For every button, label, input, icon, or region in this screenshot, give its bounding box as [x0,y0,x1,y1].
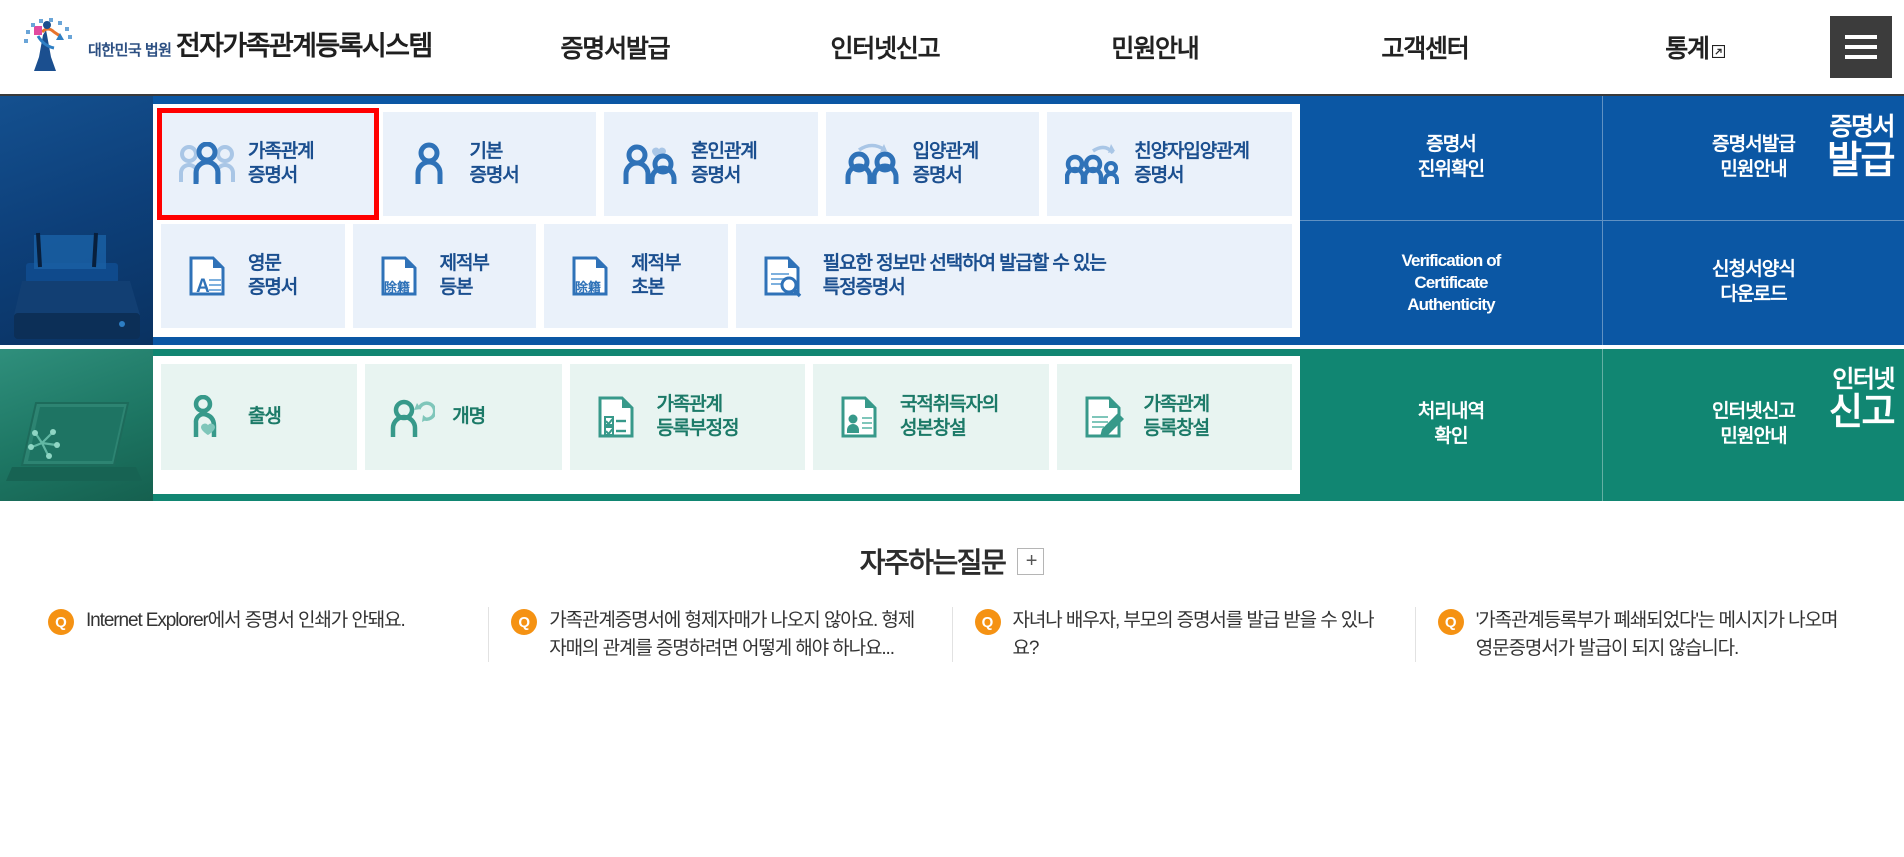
card-basic-certificate[interactable]: 기본 증명서 [383,112,597,216]
certificate-section: 증명서 발급 가족관계 증명서 [0,96,1904,345]
card-specific-certificate[interactable]: 필요한 정보만 선택하여 발급할 수 있는 특정증명서 [736,224,1292,328]
nav-internet-report[interactable]: 인터넷신고 [750,29,1020,65]
card-label: 국적취득자의 성본창설 [900,393,998,442]
faq-item[interactable]: Q Internet Explorer에서 증명서 인쇄가 안돼요. [26,607,488,662]
pregnant-person-heart-icon [179,395,235,439]
svg-text:除籍: 除籍 [384,280,410,295]
card-label: 출생 [248,405,281,429]
side-link-processing-status[interactable]: 처리내역 확인 [1300,349,1602,501]
document-checklist-icon [588,393,644,441]
section-label-top: 인터넷 [1829,367,1894,393]
card-label: 필요한 정보만 선택하여 발급할 수 있는 특정증명서 [823,252,1106,301]
card-jejeok-copy[interactable]: 除籍 제적부 등본 [353,224,537,328]
two-people-arrow-icon [844,142,900,186]
faq-question-text: 가족관계증명서에 형제자매가 나오지 않아요. 형제자매의 관계를 증명하려면 … [549,607,929,662]
nav-label: 증명서발급 [560,29,669,65]
card-label: 제적부 등본 [440,252,489,301]
section-label-top: 증명서 [1827,114,1894,142]
section-label-bottom: 발급 [1827,142,1894,182]
question-badge-icon: Q [48,609,74,635]
nav-civil-guide[interactable]: 민원안내 [1020,29,1290,65]
external-link-icon [1712,36,1725,49]
laptop-art [6,395,148,499]
nav-label: 인터넷신고 [830,29,939,65]
card-family-relation-certificate[interactable]: 가족관계 증명서 [161,112,375,216]
card-label: 혼인관계 증명서 [691,140,757,189]
card-label: 가족관계 등록창설 [1144,393,1210,442]
nav-label: 민원안내 [1111,29,1198,65]
card-full-adoption-relation-certificate[interactable]: 친양자입양관계 증명서 [1047,112,1292,216]
faq-item[interactable]: Q 가족관계증명서에 형제자매가 나오지 않아요. 형제자매의 관계를 증명하려… [488,607,951,662]
card-birth-report[interactable]: 출생 [161,364,357,470]
faq-title: 자주하는질문 [860,541,1006,581]
nav-customer-center[interactable]: 고객센터 [1290,29,1560,65]
document-jejeok-icon: 除籍 [371,252,427,300]
svg-text:除籍: 除籍 [575,280,601,295]
logo-title: 전자가족관계등록시스템 [176,31,432,61]
logo-subtitle: 대한민국 법원 [88,42,171,59]
faq-section: 자주하는질문 + Q Internet Explorer에서 증명서 인쇄가 안… [0,501,1904,662]
nav-certificate-issue[interactable]: 증명서발급 [480,29,750,65]
report-cards-row: 출생 개명 [161,364,1292,470]
side-link-verify-certificate[interactable]: 증명서 진위확인 [1300,96,1602,220]
card-registry-correction-report[interactable]: 가족관계 등록부정정 [570,364,805,470]
nav-label: 고객센터 [1381,29,1468,65]
question-badge-icon: Q [1438,609,1464,635]
card-label: 제적부 초본 [631,252,680,301]
card-jejeok-abstract[interactable]: 除籍 제적부 초본 [544,224,728,328]
faq-question-text: Internet Explorer에서 증명서 인쇄가 안돼요. [86,607,405,662]
three-people-icon [179,142,235,186]
laptop-illustration [0,349,153,501]
document-search-icon [754,252,810,300]
printer-illustration [0,96,153,345]
faq-item[interactable]: Q '가족관계등록부가 폐쇄되었다'는 메시지가 나오며 영문증명서가 발급이 … [1415,607,1878,662]
three-people-arrow-icon [1065,142,1121,186]
faq-header: 자주하는질문 + [0,541,1904,581]
card-naturalized-surname-report[interactable]: 국적취득자의 성본창설 [813,364,1048,470]
card-marriage-relation-certificate[interactable]: 혼인관계 증명서 [604,112,818,216]
side-link-application-form-download[interactable]: 신청서양식 다운로드 [1602,220,1904,345]
question-badge-icon: Q [975,609,1001,635]
card-label: 기본 증명서 [470,140,519,189]
card-label: 개명 [452,405,485,429]
card-label: 가족관계 등록부정정 [657,393,739,442]
question-badge-icon: Q [511,609,537,635]
document-letter-a-icon: A [179,252,235,300]
faq-item[interactable]: Q 자녀나 배우자, 부모의 증명서를 발급 받을 수 있나요? [952,607,1415,662]
two-people-heart-icon [622,142,678,186]
document-jejeok-icon: 除籍 [562,252,618,300]
court-scales-logo-icon [16,16,80,78]
report-side-links: 처리내역 확인 인터넷신고 민원안내 [1300,349,1904,501]
certificate-section-title: 증명서 발급 [1827,114,1894,181]
nav-label: 통계 [1665,29,1709,65]
section-label-bottom: 신고 [1829,393,1894,432]
site-logo[interactable]: 대한민국 법원 전자가족관계등록시스템 [0,16,480,78]
card-english-certificate[interactable]: A 영문 증명서 [161,224,345,328]
single-person-icon [401,142,457,186]
person-refresh-icon [383,395,439,439]
report-cards-panel: 출생 개명 [153,356,1300,494]
document-portrait-icon [831,393,887,441]
certificate-cards-row-2: A 영문 증명서 除籍 제적부 등본 [161,224,1292,328]
printer-art [4,221,153,345]
main-navigation: 증명서발급 인터넷신고 민원안내 고객센터 통계 [480,0,1830,94]
card-label: 입양관계 증명서 [913,140,979,189]
document-pen-icon [1075,393,1131,441]
side-link-verification-of-certificate-authenticity[interactable]: Verification of Certificate Authenticity [1300,220,1602,345]
certificate-cards-row-1: 가족관계 증명서 기본 증명서 [161,112,1292,216]
faq-list: Q Internet Explorer에서 증명서 인쇄가 안돼요. Q 가족관… [0,607,1904,662]
card-label: 친양자입양관계 증명서 [1134,140,1249,189]
svg-text:A: A [196,276,210,297]
faq-expand-icon[interactable]: + [1017,548,1044,575]
report-section-title: 인터넷 신고 [1829,367,1894,432]
faq-question-text: '가족관계등록부가 폐쇄되었다'는 메시지가 나오며 영문증명서가 발급이 되지… [1476,607,1856,662]
card-registry-creation-report[interactable]: 가족관계 등록창설 [1057,364,1292,470]
internet-report-section: 인터넷 신고 출생 [0,349,1904,501]
certificate-cards-panel: 가족관계 증명서 기본 증명서 [153,104,1300,337]
card-label: 영문 증명서 [248,252,297,301]
hamburger-menu-icon[interactable] [1830,16,1892,78]
certificate-side-links: 증명서 진위확인 Verification of Certificate Aut… [1300,96,1904,345]
faq-question-text: 자녀나 배우자, 부모의 증명서를 발급 받을 수 있나요? [1013,607,1393,662]
site-header: 대한민국 법원 전자가족관계등록시스템 증명서발급 인터넷신고 민원안내 고객센… [0,0,1904,96]
nav-statistics[interactable]: 통계 [1560,29,1830,65]
card-label: 가족관계 증명서 [248,140,314,189]
card-name-change-report[interactable]: 개명 [365,364,561,470]
card-adoption-relation-certificate[interactable]: 입양관계 증명서 [826,112,1040,216]
